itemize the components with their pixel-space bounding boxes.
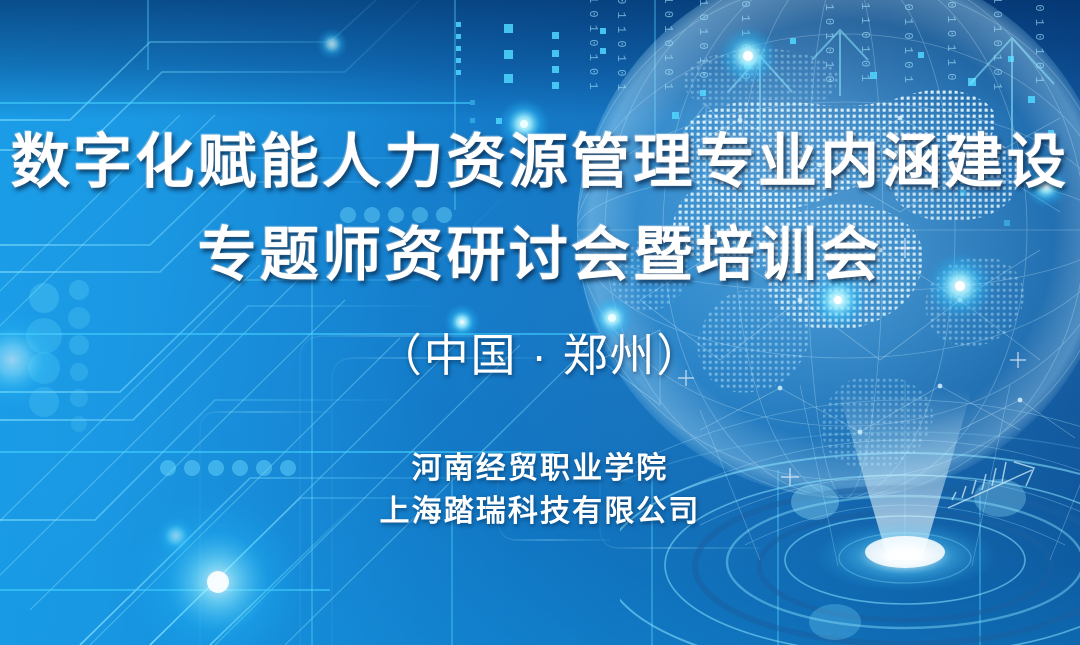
banner-title-line-1: 数字化赋能人力资源管理专业内涵建设 [11, 133, 1069, 192]
organizer-list: 河南经贸职业学院 上海踏瑞科技有限公司 [380, 454, 701, 527]
banner-location-subtitle: （中国 · 郑州） [377, 333, 703, 378]
left-midglow [0, 308, 64, 412]
organizer-company: 上海踏瑞科技有限公司 [380, 497, 701, 527]
concentric-radar-rings [0, 0, 1080, 645]
organizer-college: 河南经贸职业学院 [412, 454, 669, 484]
conference-banner: 1 0 1 0 1 0 1 0 1 0 1 0 1 1 0 1 0 1 1 0 … [0, 0, 1080, 645]
bottom-left-glow [126, 490, 310, 645]
banner-title-line-2: 专题师资研讨会暨培训会 [198, 226, 883, 285]
